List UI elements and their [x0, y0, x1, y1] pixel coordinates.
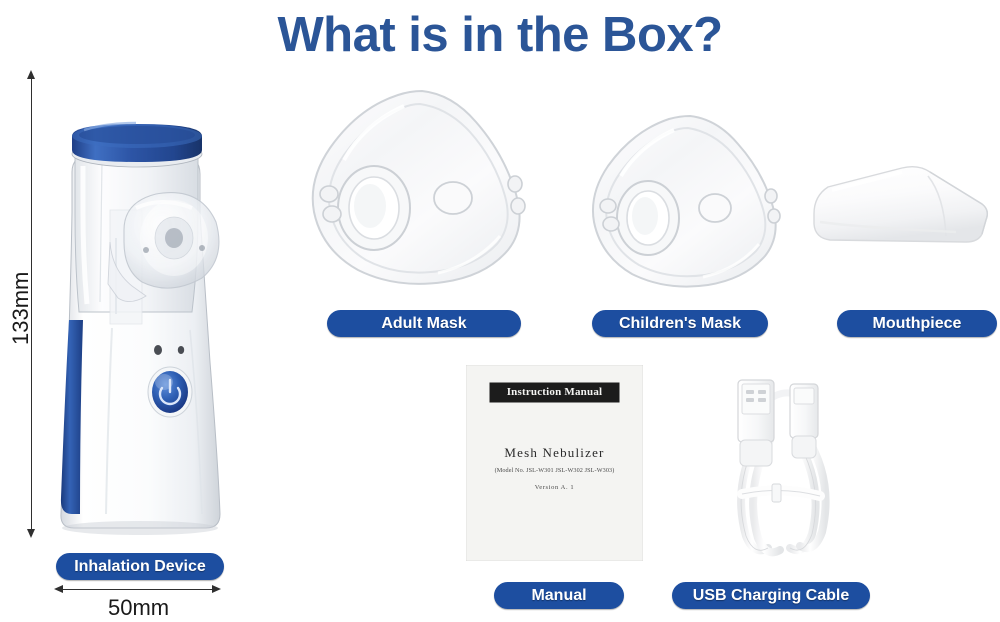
- badge-usb-charging-cable[interactable]: USB Charging Cable: [672, 582, 870, 609]
- width-dimension-label: 50mm: [108, 595, 169, 621]
- micro-usb-connector: [790, 384, 818, 458]
- height-dimension-label: 133mm: [8, 272, 34, 345]
- badge-label: USB Charging Cable: [693, 587, 849, 605]
- nebulizer-device-icon: [50, 62, 225, 540]
- height-arrow-bottom-icon: [27, 529, 35, 538]
- width-arrow-right-icon: [212, 585, 221, 593]
- manual-model-number: (Model No. JSL-W301 JSL-W302 JSL-W303): [466, 467, 643, 474]
- product-infographic: What is in the Box? 133mm: [0, 0, 1000, 622]
- badge-label: Manual: [531, 587, 586, 605]
- manual-version: Version A. 1: [466, 484, 643, 491]
- power-button-icon: [148, 367, 192, 417]
- badge-label: Inhalation Device: [74, 558, 206, 576]
- mouthpiece-icon: [806, 162, 994, 264]
- manual-title: Instruction Manual: [507, 386, 603, 398]
- usb-cable-icon: [716, 368, 848, 564]
- width-dimension-line: [62, 589, 214, 590]
- adult-mask-icon: [300, 84, 548, 299]
- childrens-mask-icon: [584, 110, 796, 298]
- height-arrow-top-icon: [27, 70, 35, 79]
- badge-label: Adult Mask: [381, 315, 466, 333]
- led-indicator-right: [178, 346, 184, 354]
- led-indicator-left: [154, 345, 162, 355]
- manual-title-box: Instruction Manual: [491, 384, 618, 402]
- width-arrow-left-icon: [54, 585, 63, 593]
- usb-a-connector: [738, 380, 774, 466]
- badge-label: Children's Mask: [619, 315, 741, 333]
- instruction-manual-icon: Instruction Manual Mesh Nebulizer (Model…: [466, 365, 643, 561]
- page-title: What is in the Box?: [0, 4, 1000, 66]
- badge-childrens-mask[interactable]: Children's Mask: [592, 310, 768, 337]
- manual-product-name: Mesh Nebulizer: [466, 445, 643, 461]
- badge-adult-mask[interactable]: Adult Mask: [327, 310, 521, 337]
- badge-mouthpiece[interactable]: Mouthpiece: [837, 310, 997, 337]
- badge-label: Mouthpiece: [873, 315, 962, 333]
- badge-manual[interactable]: Manual: [494, 582, 624, 609]
- badge-inhalation-device[interactable]: Inhalation Device: [56, 553, 224, 580]
